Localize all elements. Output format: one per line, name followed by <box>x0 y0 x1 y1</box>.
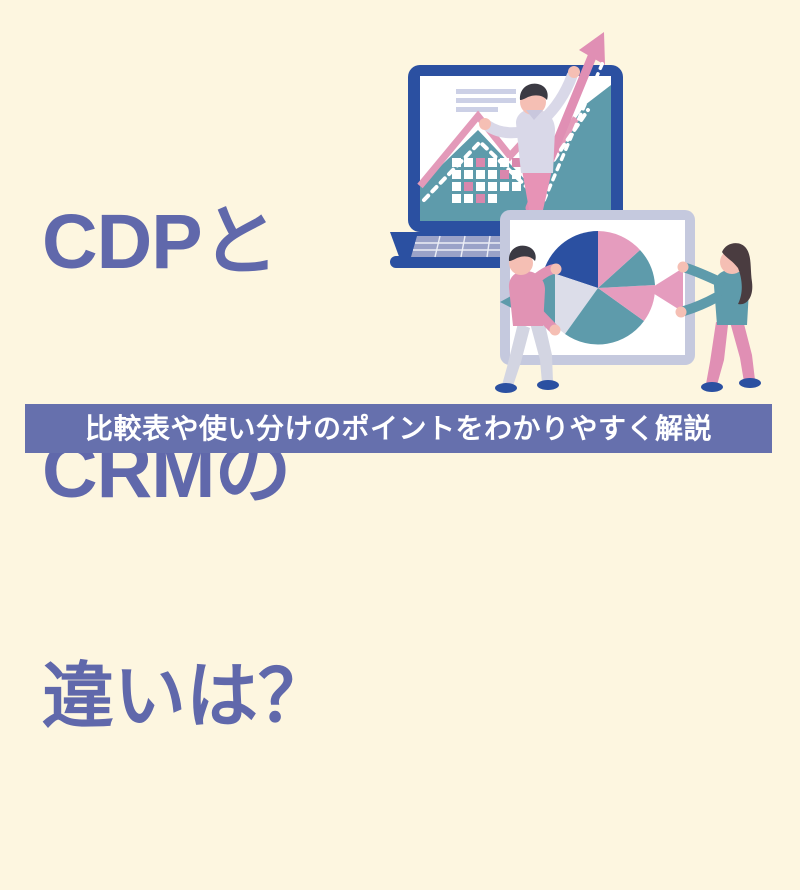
subtitle-banner: 比較表や使い分けのポイントをわかりやすく解説 <box>25 404 772 453</box>
hero-illustration <box>380 10 800 400</box>
title-line-1: CDPと <box>42 204 402 280</box>
poster-canvas: CDPと CRMの 違いは？ <box>0 0 800 490</box>
page-title: CDPと CRMの 違いは？ <box>42 52 402 885</box>
whiteboard-pie-illustration <box>495 210 761 393</box>
subtitle-banner-text: 比較表や使い分けのポイントをわかりやすく解説 <box>85 415 712 443</box>
title-line-3: 違いは？ <box>42 662 402 733</box>
